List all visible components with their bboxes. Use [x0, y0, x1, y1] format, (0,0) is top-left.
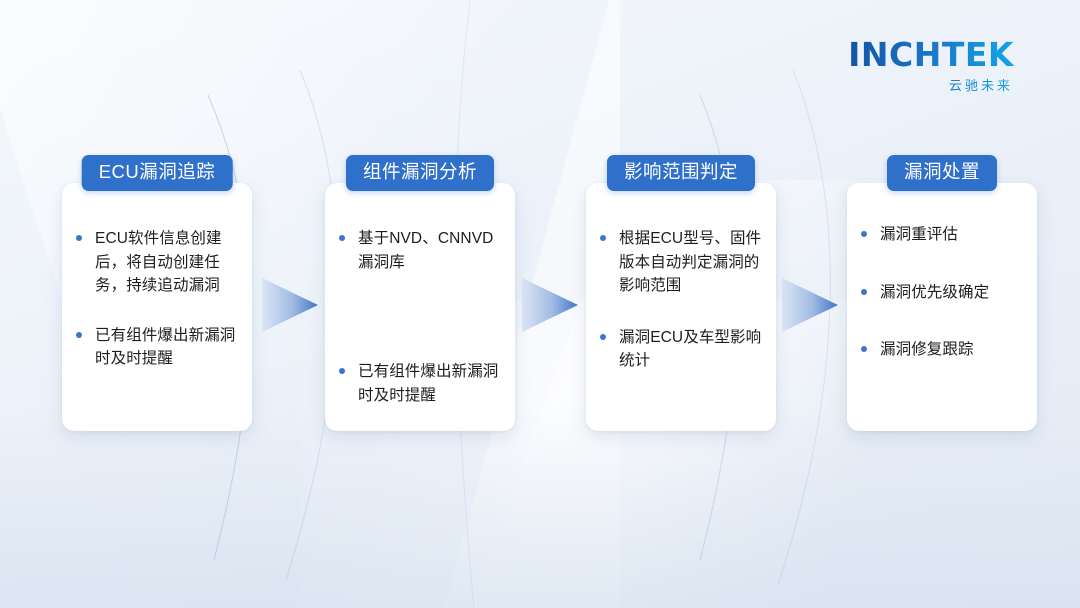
- flow-card-impact-scope-determination[interactable]: 影响范围判定 根据ECU型号、固件版本自动判定漏洞的影响范围 漏洞ECU及车型影…: [586, 183, 776, 431]
- flow-arrow-2: [522, 276, 578, 334]
- slide-canvas: ECU漏洞追踪 ECU软件信息创建后，将自动创建任务，持续追动漏洞 已有组件爆出…: [0, 0, 1080, 608]
- list-item: 已有组件爆出新漏洞时及时提醒: [339, 360, 503, 407]
- list-item: 基于NVD、CNNVD漏洞库: [339, 227, 503, 274]
- brand-logo: INCHTEK 云驰未来: [848, 38, 1014, 94]
- bullet-dot-icon: [339, 235, 345, 241]
- card-title-4: 漏洞处置: [887, 155, 997, 191]
- bullet-text: 漏洞重评估: [880, 223, 958, 247]
- bullet-text: ECU软件信息创建后，将自动创建任务，持续追动漏洞: [95, 227, 240, 298]
- list-item: 漏洞修复跟踪: [861, 338, 1025, 362]
- flow-arrow-3: [782, 276, 838, 334]
- bullet-dot-icon: [861, 289, 867, 295]
- bullet-dot-icon: [339, 368, 345, 374]
- bullet-text: 基于NVD、CNNVD漏洞库: [358, 227, 503, 274]
- list-item: 根据ECU型号、固件版本自动判定漏洞的影响范围: [600, 227, 764, 298]
- bullet-dot-icon: [76, 332, 82, 338]
- bullet-dot-icon: [861, 231, 867, 237]
- brand-tagline: 云驰未来: [848, 75, 1014, 94]
- bullet-dot-icon: [600, 334, 606, 340]
- list-item: 漏洞优先级确定: [861, 281, 1025, 305]
- flow-card-ecu-vulnerability-tracking[interactable]: ECU漏洞追踪 ECU软件信息创建后，将自动创建任务，持续追动漏洞 已有组件爆出…: [62, 183, 252, 431]
- card-title-3: 影响范围判定: [607, 155, 755, 191]
- flow-card-vulnerability-disposal[interactable]: 漏洞处置 漏洞重评估 漏洞优先级确定 漏洞修复跟踪: [847, 183, 1037, 431]
- card-title-2: 组件漏洞分析: [346, 155, 494, 191]
- card-body-3: 根据ECU型号、固件版本自动判定漏洞的影响范围 漏洞ECU及车型影响统计: [586, 227, 776, 423]
- flow-card-component-vulnerability-analysis[interactable]: 组件漏洞分析 基于NVD、CNNVD漏洞库 已有组件爆出新漏洞时及时提醒: [325, 183, 515, 431]
- list-item: 漏洞重评估: [861, 223, 1025, 247]
- list-item: 漏洞ECU及车型影响统计: [600, 326, 764, 373]
- bullet-text: 漏洞优先级确定: [880, 281, 989, 305]
- card-body-1: ECU软件信息创建后，将自动创建任务，持续追动漏洞 已有组件爆出新漏洞时及时提醒: [62, 227, 252, 423]
- bullet-text: 根据ECU型号、固件版本自动判定漏洞的影响范围: [619, 227, 764, 298]
- brand-name: INCHTEK: [848, 38, 1014, 71]
- list-item: 已有组件爆出新漏洞时及时提醒: [76, 324, 240, 371]
- bullet-dot-icon: [861, 346, 867, 352]
- bullet-text: 已有组件爆出新漏洞时及时提醒: [358, 360, 503, 407]
- card-body-2: 基于NVD、CNNVD漏洞库 已有组件爆出新漏洞时及时提醒: [325, 227, 515, 423]
- bullet-dot-icon: [76, 235, 82, 241]
- card-body-4: 漏洞重评估 漏洞优先级确定 漏洞修复跟踪: [847, 223, 1037, 423]
- bullet-text: 已有组件爆出新漏洞时及时提醒: [95, 324, 240, 371]
- card-title-1: ECU漏洞追踪: [82, 155, 233, 191]
- list-item: ECU软件信息创建后，将自动创建任务，持续追动漏洞: [76, 227, 240, 298]
- bullet-dot-icon: [600, 235, 606, 241]
- bullet-text: 漏洞ECU及车型影响统计: [619, 326, 764, 373]
- flow-arrow-1: [262, 276, 318, 334]
- bullet-text: 漏洞修复跟踪: [880, 338, 974, 362]
